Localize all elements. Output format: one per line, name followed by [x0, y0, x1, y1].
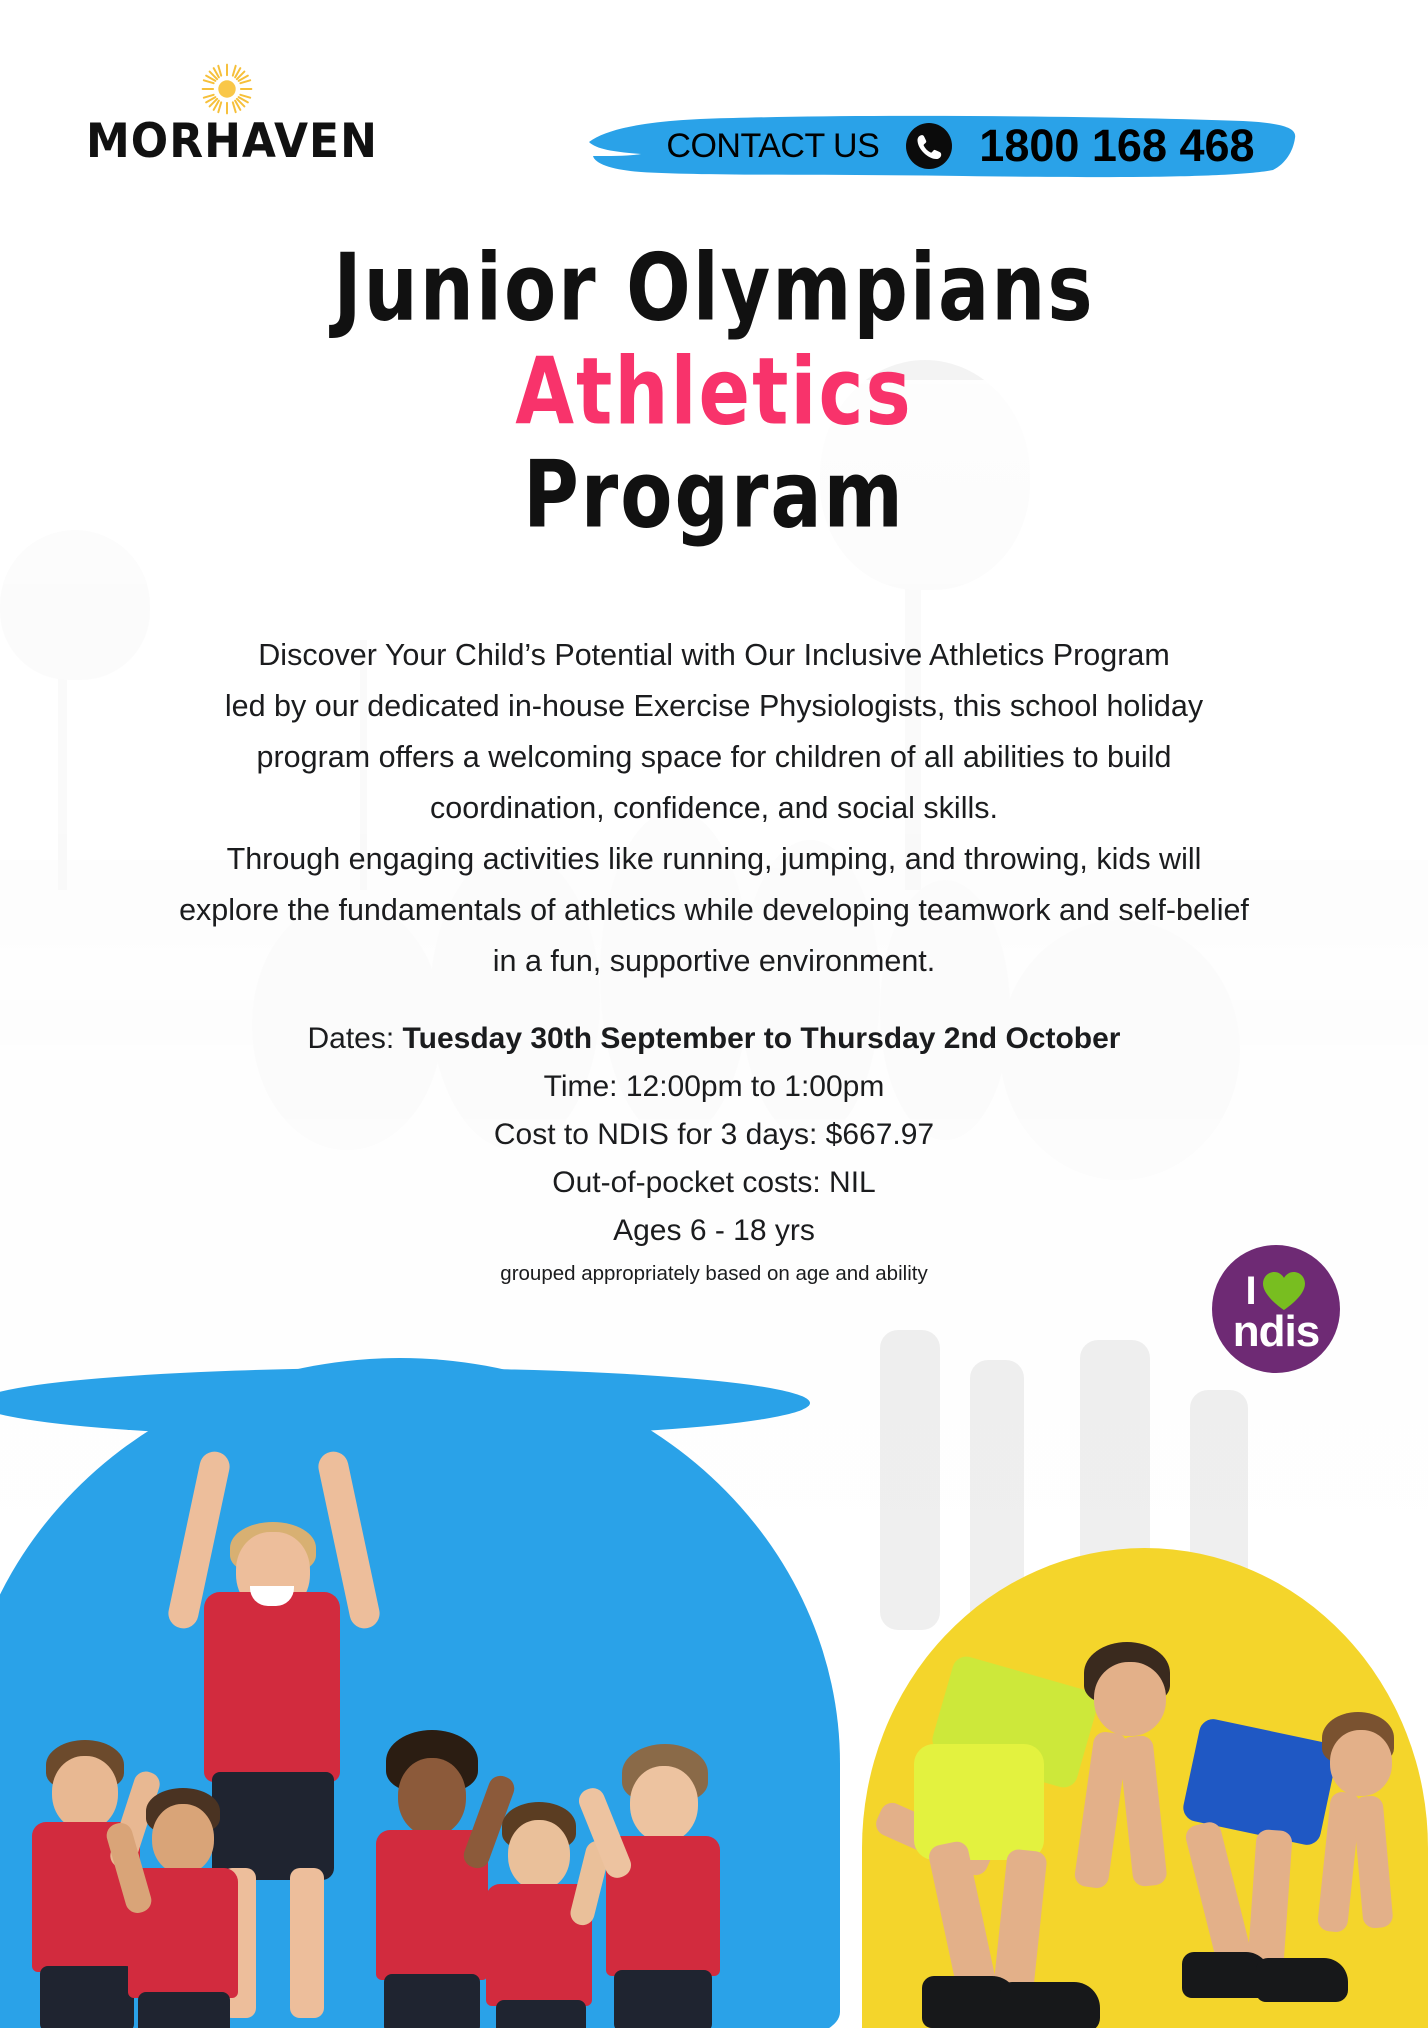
program-description: Discover Your Child’s Potential with Our…	[88, 630, 1340, 987]
title-line-2: Athletics	[0, 344, 1428, 439]
brand-logo: MORHAVEN	[86, 60, 356, 170]
child-figure	[594, 1740, 744, 2028]
title-line-3: Program	[0, 447, 1428, 542]
contact-us-label: CONTACT US	[666, 127, 879, 166]
description-line: Discover Your Child’s Potential with Our…	[88, 630, 1340, 681]
title-line-1: Junior Olympians	[0, 240, 1428, 335]
description-line: coordination, confidence, and social ski…	[88, 783, 1340, 834]
bottom-photo-collage	[0, 1330, 1428, 2028]
detail-age-note: grouped appropriately based on age and a…	[88, 1257, 1340, 1291]
description-line: led by our dedicated in-house Exercise P…	[88, 681, 1340, 732]
brand-name: MORHAVEN	[86, 114, 356, 169]
contact-banner[interactable]: CONTACT US 1800 168 468	[583, 112, 1298, 180]
child-figure	[120, 1770, 260, 2028]
heart-icon	[1261, 1270, 1307, 1312]
ndis-badge-top-row: I	[1245, 1270, 1306, 1312]
dates-label: Dates:	[308, 1022, 403, 1055]
program-details: Dates: Tuesday 30th September to Thursda…	[88, 1015, 1340, 1291]
ndis-i-letter: I	[1245, 1271, 1256, 1311]
dates-value: Tuesday 30th September to Thursday 2nd O…	[403, 1022, 1121, 1055]
phone-number[interactable]: 1800 168 468	[979, 120, 1254, 172]
detail-ages: Ages 6 - 18 yrs	[88, 1207, 1340, 1255]
description-line: in a fun, supportive environment.	[88, 936, 1340, 987]
sun-icon	[198, 60, 256, 118]
poster-canvas: MORHAVEN CONTACT US 1800 168 468 Junior …	[0, 0, 1428, 2028]
detail-dates: Dates: Tuesday 30th September to Thursda…	[88, 1015, 1340, 1063]
poster-title: Junior Olympians Athletics Program	[0, 240, 1428, 525]
description-line: Through engaging activities like running…	[88, 834, 1340, 885]
description-line: explore the fundamentals of athletics wh…	[88, 885, 1340, 936]
kids-celebrating-photo	[0, 1450, 790, 2028]
phone-icon	[905, 122, 953, 170]
detail-time: Time: 12:00pm to 1:00pm	[88, 1063, 1340, 1111]
runner-figure-blue	[1160, 1690, 1428, 2028]
description-line: program offers a welcoming space for chi…	[88, 732, 1340, 783]
detail-cost: Cost to NDIS for 3 days: $667.97	[88, 1111, 1340, 1159]
detail-out-of-pocket: Out-of-pocket costs: NIL	[88, 1159, 1340, 1207]
